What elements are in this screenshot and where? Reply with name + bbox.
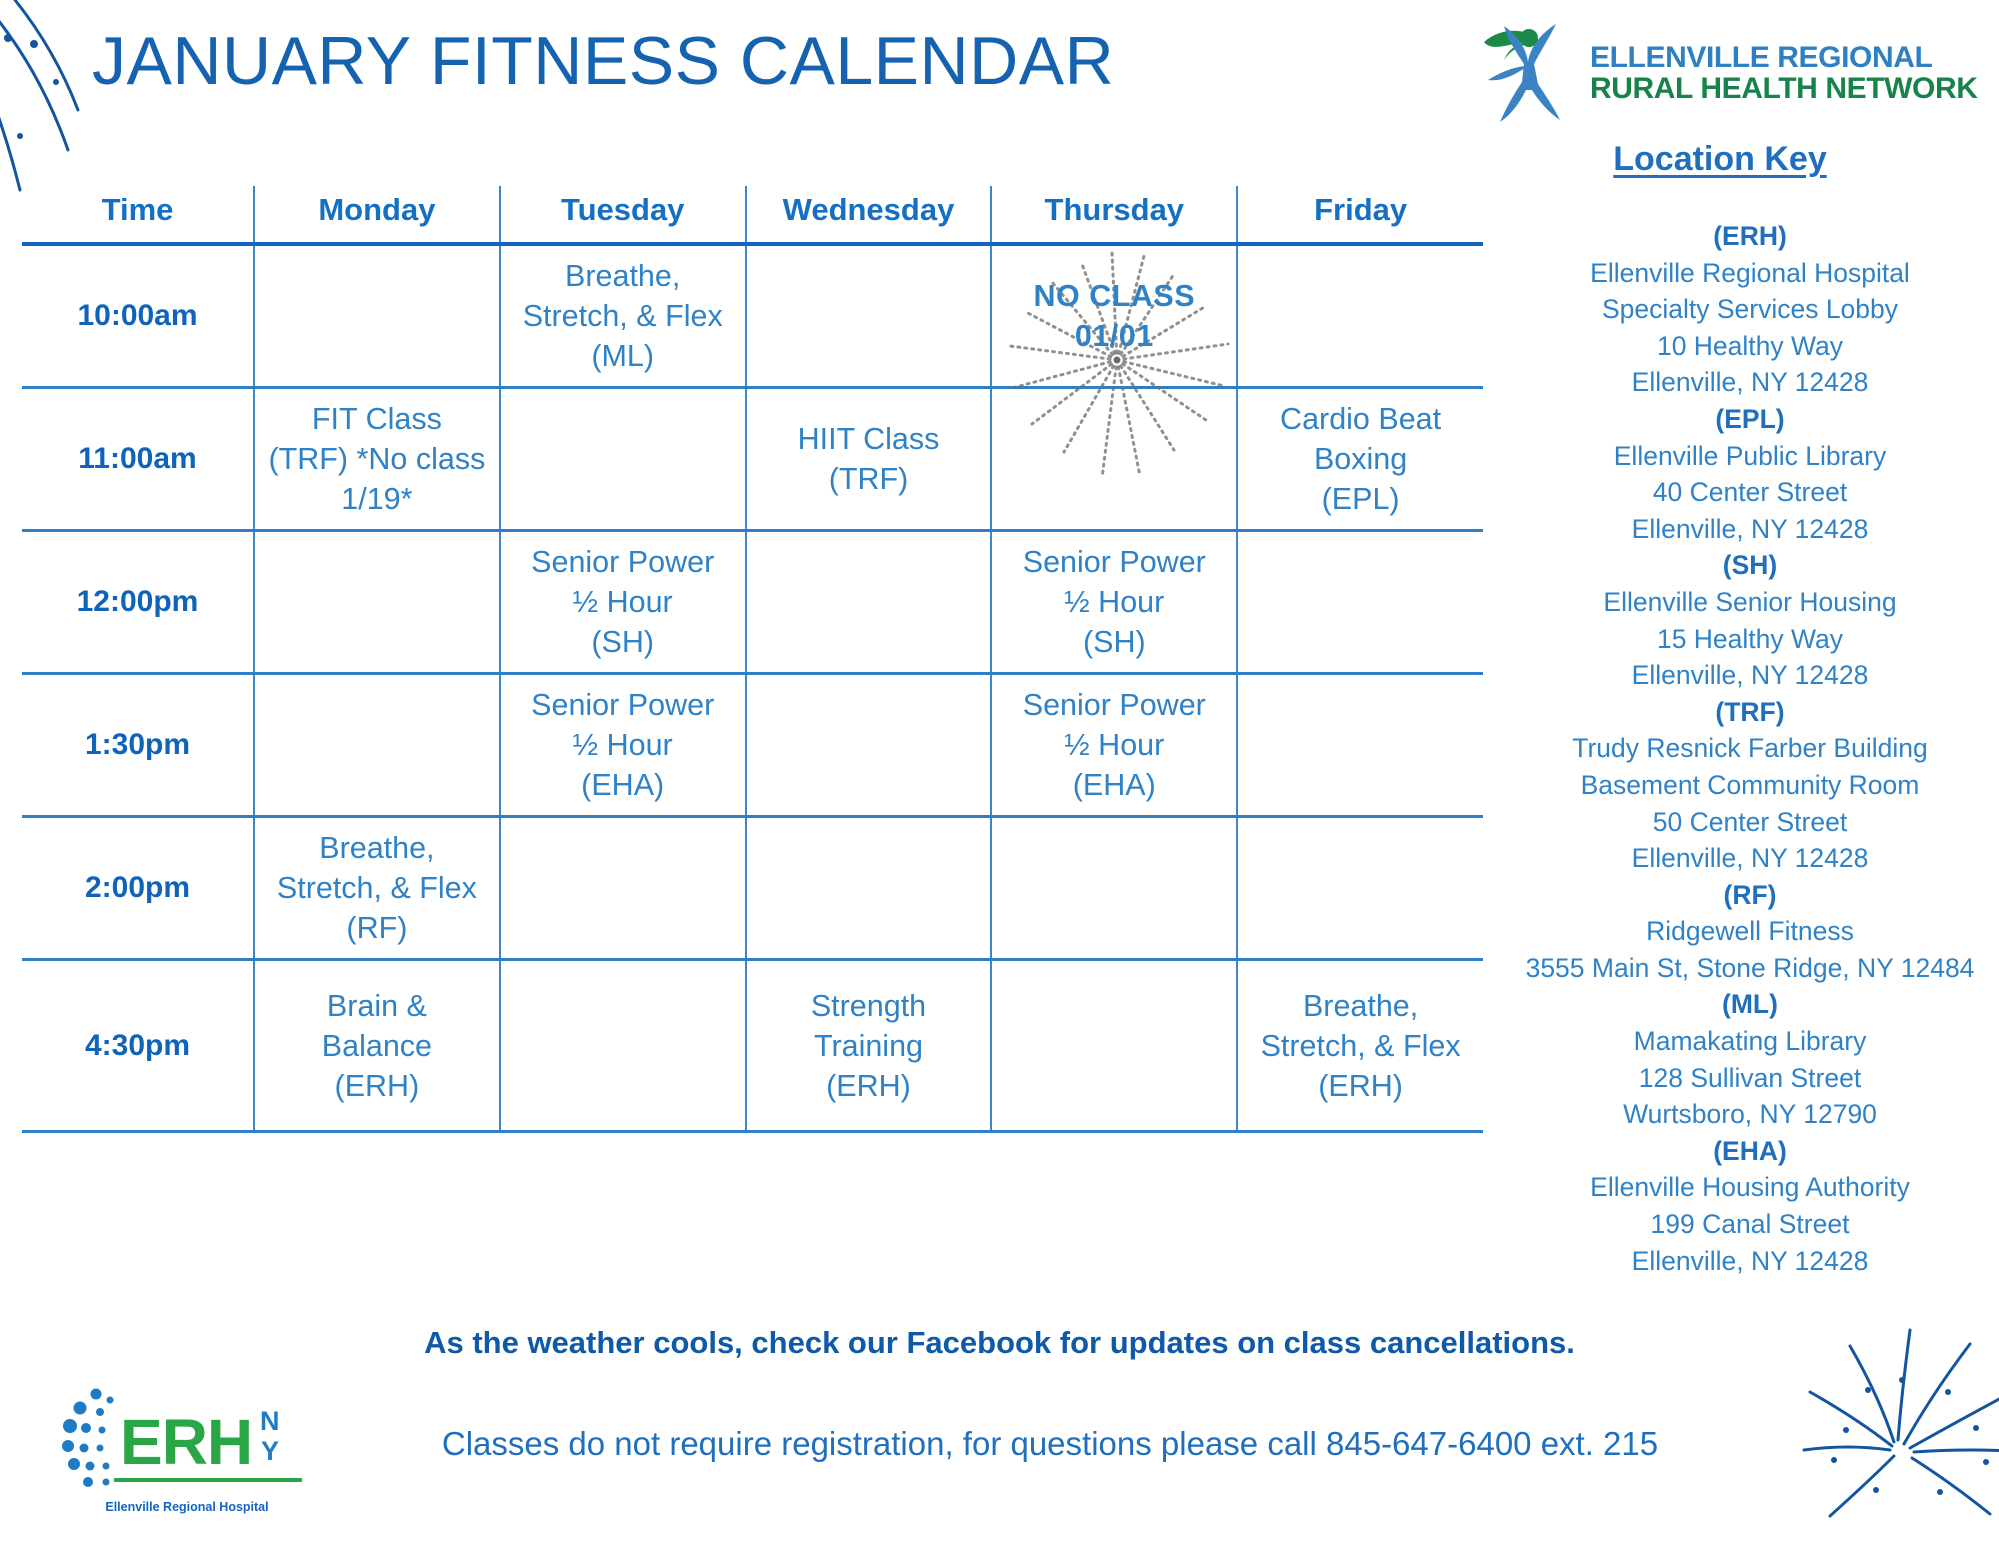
fitness-calendar-table: Time Monday Tuesday Wednesday Thursday F… — [22, 186, 1483, 1133]
calendar-cell-tuesday[interactable]: Senior Power½ Hour(SH) — [500, 531, 746, 674]
calendar-cell-friday[interactable]: Breathe,Stretch, & Flex(ERH) — [1237, 960, 1483, 1132]
no-class-label: NO CLASS01/01 — [1033, 279, 1195, 353]
erh-hospital-logo: ERH N Y — [62, 1378, 312, 1508]
location-address-line: Specialty Services Lobby — [1505, 291, 1995, 328]
class-entry: HIIT Class(TRF) — [798, 422, 940, 496]
location-address-line: 15 Healthy Way — [1505, 621, 1995, 658]
calendar-cell-monday[interactable] — [254, 531, 500, 674]
location-address-line: 3555 Main St, Stone Ridge, NY 12484 — [1505, 950, 1995, 987]
class-entry: Breathe,Stretch, & Flex(RF) — [277, 831, 477, 945]
erh-logo-caption: Ellenville Regional Hospital — [62, 1500, 312, 1514]
calendar-cell-friday[interactable]: Cardio BeatBoxing(EPL) — [1237, 388, 1483, 531]
calendar-cell-thursday[interactable]: Senior Power½ Hour(SH) — [991, 531, 1237, 674]
calendar-row: 2:00pmBreathe,Stretch, & Flex(RF) — [22, 817, 1483, 960]
calendar-cell-friday[interactable] — [1237, 674, 1483, 817]
calendar-cell-tuesday[interactable]: Senior Power½ Hour(EHA) — [500, 674, 746, 817]
calendar-cell-wednesday[interactable] — [746, 244, 992, 388]
calendar-cell-thursday[interactable] — [991, 388, 1237, 531]
calendar-cell-tuesday[interactable] — [500, 817, 746, 960]
location-address-line: Ellenville Regional Hospital — [1505, 255, 1995, 292]
location-code: (EHA) — [1505, 1133, 1995, 1170]
calendar-cell-monday[interactable] — [254, 674, 500, 817]
time-slot-label: 2:00pm — [22, 817, 254, 960]
location-address-line: 50 Center Street — [1505, 804, 1995, 841]
location-code: (TRF) — [1505, 694, 1995, 731]
location-code: (ML) — [1505, 986, 1995, 1023]
location-key-title: Location Key — [1510, 140, 1930, 179]
class-entry: Senior Power½ Hour(EHA) — [1023, 688, 1206, 802]
location-address-line: Basement Community Room — [1505, 767, 1995, 804]
location-address-line: Ellenville, NY 12428 — [1505, 657, 1995, 694]
time-slot-label: 12:00pm — [22, 531, 254, 674]
svg-text:ERH: ERH — [120, 1406, 252, 1478]
time-slot-label: 10:00am — [22, 244, 254, 388]
column-header-time: Time — [22, 186, 254, 244]
class-entry: Senior Power½ Hour(EHA) — [531, 688, 714, 802]
fitness-calendar-page: JANUARY FITNESS CALENDAR ELLENVILLE REGI… — [0, 0, 1999, 1545]
calendar-cell-monday[interactable] — [254, 244, 500, 388]
svg-text:N: N — [260, 1406, 280, 1436]
location-address-line: Ellenville Housing Authority — [1505, 1169, 1995, 1206]
weather-notice: As the weather cools, check our Facebook… — [0, 1325, 1999, 1361]
location-address-line: Mamakating Library — [1505, 1023, 1995, 1060]
dot-cluster-icon — [62, 1389, 114, 1488]
calendar-cell-thursday[interactable]: Senior Power½ Hour(EHA) — [991, 674, 1237, 817]
calendar-header-row: Time Monday Tuesday Wednesday Thursday F… — [22, 186, 1483, 244]
location-address-line: Ellenville Senior Housing — [1505, 584, 1995, 621]
calendar-cell-monday[interactable]: FIT Class(TRF) *No class1/19* — [254, 388, 500, 531]
location-code: (SH) — [1505, 547, 1995, 584]
column-header-thursday: Thursday — [991, 186, 1237, 244]
calendar-cell-thursday[interactable]: NO CLASS01/01 — [991, 244, 1237, 388]
location-address-line: 128 Sullivan Street — [1505, 1060, 1995, 1097]
class-entry: Brain &Balance(ERH) — [322, 989, 432, 1103]
registration-notice: Classes do not require registration, for… — [300, 1425, 1800, 1463]
location-address-line: Trudy Resnick Farber Building — [1505, 730, 1995, 767]
brand-line-1: ELLENVILLE REGIONAL — [1590, 43, 1978, 74]
class-entry: Senior Power½ Hour(SH) — [531, 545, 714, 659]
location-address-line: Ridgewell Fitness — [1505, 913, 1995, 950]
class-entry: Senior Power½ Hour(SH) — [1023, 545, 1206, 659]
class-entry: Breathe,Stretch, & Flex(ERH) — [1261, 989, 1461, 1103]
time-slot-label: 4:30pm — [22, 960, 254, 1132]
calendar-row: 12:00pmSenior Power½ Hour(SH)Senior Powe… — [22, 531, 1483, 674]
svg-text:Y: Y — [261, 1436, 279, 1466]
calendar-cell-wednesday[interactable] — [746, 817, 992, 960]
location-address-line: Ellenville, NY 12428 — [1505, 840, 1995, 877]
location-address-line: 40 Center Street — [1505, 474, 1995, 511]
calendar-row: 10:00amBreathe,Stretch, & Flex(ML)NO CLA… — [22, 244, 1483, 388]
calendar-row: 4:30pmBrain &Balance(ERH)StrengthTrainin… — [22, 960, 1483, 1132]
location-code: (ERH) — [1505, 218, 1995, 255]
location-address-line: 10 Healthy Way — [1505, 328, 1995, 365]
calendar-cell-wednesday[interactable]: HIIT Class(TRF) — [746, 388, 992, 531]
calendar-cell-tuesday[interactable] — [500, 960, 746, 1132]
calendar-cell-thursday[interactable] — [991, 817, 1237, 960]
time-slot-label: 1:30pm — [22, 674, 254, 817]
class-entry: Breathe,Stretch, & Flex(ML) — [523, 259, 723, 373]
brand-line-2: RURAL HEALTH NETWORK — [1590, 74, 1978, 105]
calendar-cell-wednesday[interactable] — [746, 674, 992, 817]
calendar-cell-tuesday[interactable] — [500, 388, 746, 531]
calendar-cell-monday[interactable]: Breathe,Stretch, & Flex(RF) — [254, 817, 500, 960]
calendar-cell-wednesday[interactable]: StrengthTraining(ERH) — [746, 960, 992, 1132]
location-code: (RF) — [1505, 877, 1995, 914]
person-leaf-icon — [1482, 20, 1576, 128]
location-address-line: Ellenville, NY 12428 — [1505, 511, 1995, 548]
calendar-body: 10:00amBreathe,Stretch, & Flex(ML)NO CLA… — [22, 244, 1483, 1132]
time-slot-label: 11:00am — [22, 388, 254, 531]
location-address-line: Wurtsboro, NY 12790 — [1505, 1096, 1995, 1133]
location-code: (EPL) — [1505, 401, 1995, 438]
class-entry: Cardio BeatBoxing(EPL) — [1280, 402, 1441, 516]
column-header-friday: Friday — [1237, 186, 1483, 244]
calendar-row: 11:00amFIT Class(TRF) *No class1/19*HIIT… — [22, 388, 1483, 531]
calendar-cell-friday[interactable] — [1237, 531, 1483, 674]
location-address-line: 199 Canal Street — [1505, 1206, 1995, 1243]
brand-logo: ELLENVILLE REGIONAL RURAL HEALTH NETWORK — [1482, 20, 1978, 128]
location-address-line: Ellenville Public Library — [1505, 438, 1995, 475]
calendar-cell-friday[interactable] — [1237, 817, 1483, 960]
column-header-wednesday: Wednesday — [746, 186, 992, 244]
class-entry: StrengthTraining(ERH) — [811, 989, 926, 1103]
location-key-list: (ERH)Ellenville Regional HospitalSpecial… — [1505, 218, 1995, 1279]
calendar-row: 1:30pmSenior Power½ Hour(EHA)Senior Powe… — [22, 674, 1483, 817]
calendar-cell-wednesday[interactable] — [746, 531, 992, 674]
column-header-tuesday: Tuesday — [500, 186, 746, 244]
calendar-cell-friday[interactable] — [1237, 244, 1483, 388]
location-address-line: Ellenville, NY 12428 — [1505, 364, 1995, 401]
page-title: JANUARY FITNESS CALENDAR — [92, 22, 1114, 100]
column-header-monday: Monday — [254, 186, 500, 244]
calendar-cell-thursday[interactable] — [991, 960, 1237, 1132]
calendar-cell-monday[interactable]: Brain &Balance(ERH) — [254, 960, 500, 1132]
class-entry: FIT Class(TRF) *No class1/19* — [268, 402, 485, 516]
calendar-cell-tuesday[interactable]: Breathe,Stretch, & Flex(ML) — [500, 244, 746, 388]
location-address-line: Ellenville, NY 12428 — [1505, 1243, 1995, 1280]
